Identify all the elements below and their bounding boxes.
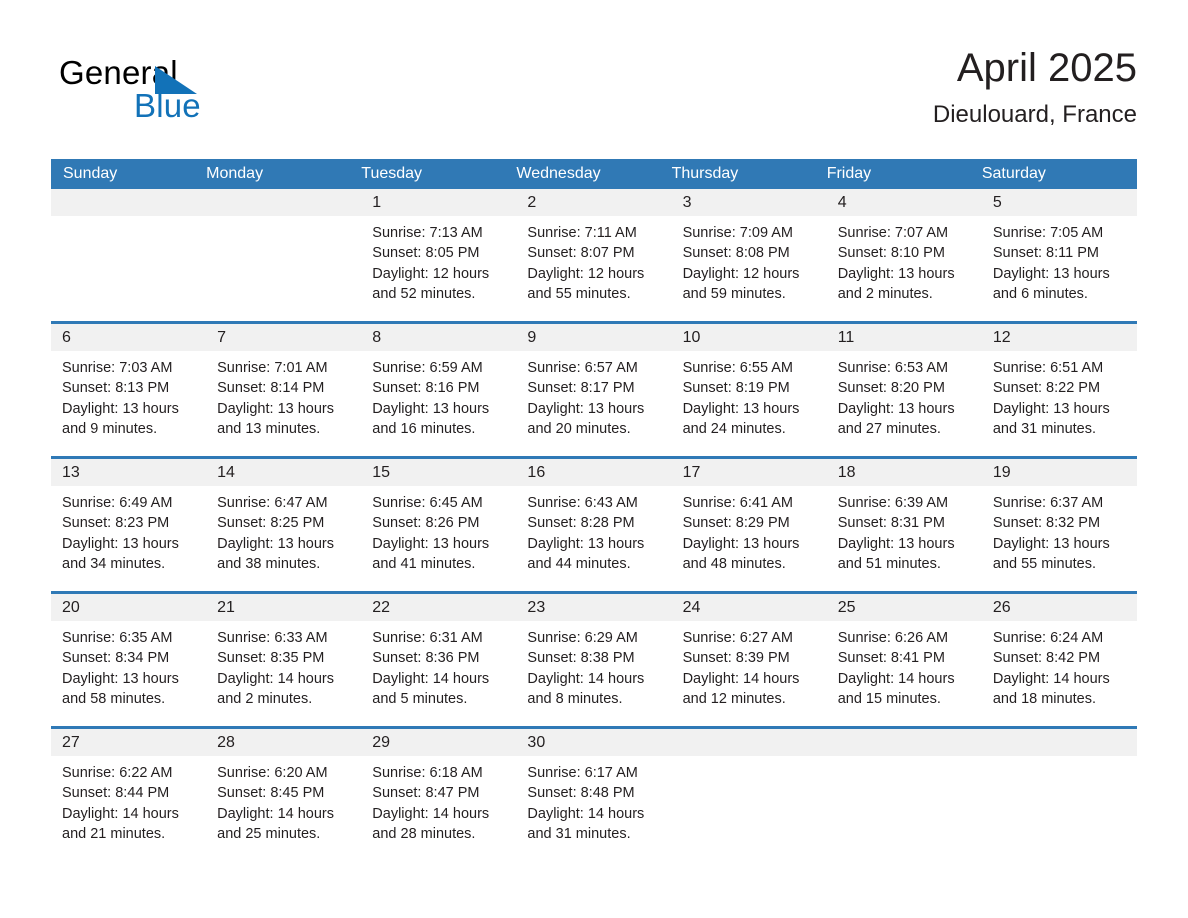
calendar-empty-cell	[51, 189, 206, 323]
day-number-band: 8	[361, 324, 516, 351]
calendar-day-cell[interactable]: 14Sunrise: 6:47 AMSunset: 8:25 PMDayligh…	[206, 458, 361, 593]
day-number: 11	[827, 324, 982, 351]
day-cell-inner: 13Sunrise: 6:49 AMSunset: 8:23 PMDayligh…	[51, 459, 206, 591]
calendar-header-row: Sunday Monday Tuesday Wednesday Thursday…	[51, 159, 1137, 189]
sunset-time: Sunset: 8:34 PM	[62, 648, 198, 668]
day-number-band: 18	[827, 459, 982, 486]
calendar-day-cell[interactable]: 8Sunrise: 6:59 AMSunset: 8:16 PMDaylight…	[361, 323, 516, 458]
sunrise-time: Sunrise: 6:20 AM	[217, 763, 353, 783]
sunset-time: Sunset: 8:26 PM	[372, 513, 508, 533]
daylight-duration-line2: and 24 minutes.	[683, 419, 819, 439]
sunrise-time: Sunrise: 6:31 AM	[372, 628, 508, 648]
day-cell-inner: 1Sunrise: 7:13 AMSunset: 8:05 PMDaylight…	[361, 189, 516, 321]
sunset-time: Sunset: 8:19 PM	[683, 378, 819, 398]
day-number-band: 21	[206, 594, 361, 621]
day-details: Sunrise: 6:37 AMSunset: 8:32 PMDaylight:…	[982, 486, 1137, 574]
daylight-duration-line1: Daylight: 13 hours	[217, 399, 353, 419]
day-number-band: 2	[516, 189, 671, 216]
day-number-band: 5	[982, 189, 1137, 216]
daylight-duration-line2: and 51 minutes.	[838, 554, 974, 574]
daylight-duration-line1: Daylight: 13 hours	[217, 534, 353, 554]
sunset-time: Sunset: 8:35 PM	[217, 648, 353, 668]
daylight-duration-line2: and 55 minutes.	[993, 554, 1129, 574]
sunset-time: Sunset: 8:14 PM	[217, 378, 353, 398]
daylight-duration-line1: Daylight: 12 hours	[372, 264, 508, 284]
daylight-duration-line1: Daylight: 14 hours	[527, 669, 663, 689]
sunrise-time: Sunrise: 7:13 AM	[372, 223, 508, 243]
calendar-day-cell[interactable]: 18Sunrise: 6:39 AMSunset: 8:31 PMDayligh…	[827, 458, 982, 593]
sunset-time: Sunset: 8:07 PM	[527, 243, 663, 263]
day-number: 9	[516, 324, 671, 351]
day-cell-inner: 29Sunrise: 6:18 AMSunset: 8:47 PMDayligh…	[361, 729, 516, 861]
sunrise-time: Sunrise: 6:37 AM	[993, 493, 1129, 513]
day-details: Sunrise: 7:01 AMSunset: 8:14 PMDaylight:…	[206, 351, 361, 439]
day-number-band: 15	[361, 459, 516, 486]
day-details: Sunrise: 6:26 AMSunset: 8:41 PMDaylight:…	[827, 621, 982, 709]
day-number-band: 19	[982, 459, 1137, 486]
sunrise-time: Sunrise: 6:53 AM	[838, 358, 974, 378]
sunset-time: Sunset: 8:13 PM	[62, 378, 198, 398]
day-details: Sunrise: 6:43 AMSunset: 8:28 PMDaylight:…	[516, 486, 671, 574]
day-cell-inner: 19Sunrise: 6:37 AMSunset: 8:32 PMDayligh…	[982, 459, 1137, 591]
daylight-duration-line2: and 21 minutes.	[62, 824, 198, 844]
day-cell-inner: 24Sunrise: 6:27 AMSunset: 8:39 PMDayligh…	[672, 594, 827, 726]
sunrise-time: Sunrise: 6:18 AM	[372, 763, 508, 783]
daylight-duration-line1: Daylight: 13 hours	[62, 669, 198, 689]
day-number-band: 6	[51, 324, 206, 351]
day-number-band: 26	[982, 594, 1137, 621]
daylight-duration-line2: and 58 minutes.	[62, 689, 198, 709]
sunrise-time: Sunrise: 6:55 AM	[683, 358, 819, 378]
calendar-day-cell[interactable]: 25Sunrise: 6:26 AMSunset: 8:41 PMDayligh…	[827, 593, 982, 728]
daylight-duration-line1: Daylight: 14 hours	[62, 804, 198, 824]
daylight-duration-line1: Daylight: 13 hours	[838, 264, 974, 284]
day-cell-inner: 8Sunrise: 6:59 AMSunset: 8:16 PMDaylight…	[361, 324, 516, 456]
day-details: Sunrise: 6:17 AMSunset: 8:48 PMDaylight:…	[516, 756, 671, 844]
calendar-day-cell[interactable]: 5Sunrise: 7:05 AMSunset: 8:11 PMDaylight…	[982, 189, 1137, 323]
general-blue-logo[interactable]: General Blue	[59, 54, 319, 140]
day-number: 5	[982, 189, 1137, 216]
weekday-header-thursday: Thursday	[672, 159, 827, 189]
sunrise-time: Sunrise: 7:01 AM	[217, 358, 353, 378]
calendar-body: 1Sunrise: 7:13 AMSunset: 8:05 PMDaylight…	[51, 189, 1137, 861]
day-details: Sunrise: 7:03 AMSunset: 8:13 PMDaylight:…	[51, 351, 206, 439]
day-number-band: 1	[361, 189, 516, 216]
day-details: Sunrise: 7:11 AMSunset: 8:07 PMDaylight:…	[516, 216, 671, 304]
day-number: 12	[982, 324, 1137, 351]
day-details: Sunrise: 6:33 AMSunset: 8:35 PMDaylight:…	[206, 621, 361, 709]
day-number-band: 27	[51, 729, 206, 756]
daylight-duration-line1: Daylight: 14 hours	[217, 804, 353, 824]
daylight-duration-line2: and 48 minutes.	[683, 554, 819, 574]
daylight-duration-line2: and 13 minutes.	[217, 419, 353, 439]
daylight-duration-line1: Daylight: 13 hours	[372, 399, 508, 419]
day-details: Sunrise: 7:09 AMSunset: 8:08 PMDaylight:…	[672, 216, 827, 304]
calendar-week-row: 20Sunrise: 6:35 AMSunset: 8:34 PMDayligh…	[51, 593, 1137, 728]
day-number-band: 22	[361, 594, 516, 621]
calendar-day-cell[interactable]: 30Sunrise: 6:17 AMSunset: 8:48 PMDayligh…	[516, 728, 671, 862]
day-details: Sunrise: 6:18 AMSunset: 8:47 PMDaylight:…	[361, 756, 516, 844]
day-number: 8	[361, 324, 516, 351]
sunset-time: Sunset: 8:22 PM	[993, 378, 1129, 398]
calendar-day-cell[interactable]: 9Sunrise: 6:57 AMSunset: 8:17 PMDaylight…	[516, 323, 671, 458]
day-cell-inner: 7Sunrise: 7:01 AMSunset: 8:14 PMDaylight…	[206, 324, 361, 456]
day-number: 3	[672, 189, 827, 216]
day-number: 2	[516, 189, 671, 216]
calendar-day-cell[interactable]: 13Sunrise: 6:49 AMSunset: 8:23 PMDayligh…	[51, 458, 206, 593]
sunset-time: Sunset: 8:05 PM	[372, 243, 508, 263]
day-number: 15	[361, 459, 516, 486]
sunset-time: Sunset: 8:42 PM	[993, 648, 1129, 668]
daylight-duration-line2: and 5 minutes.	[372, 689, 508, 709]
sunset-time: Sunset: 8:29 PM	[683, 513, 819, 533]
day-details: Sunrise: 6:24 AMSunset: 8:42 PMDaylight:…	[982, 621, 1137, 709]
calendar-day-cell[interactable]: 28Sunrise: 6:20 AMSunset: 8:45 PMDayligh…	[206, 728, 361, 862]
day-cell-inner: 16Sunrise: 6:43 AMSunset: 8:28 PMDayligh…	[516, 459, 671, 591]
weekday-header-monday: Monday	[206, 159, 361, 189]
day-cell-inner: 20Sunrise: 6:35 AMSunset: 8:34 PMDayligh…	[51, 594, 206, 726]
daylight-duration-line1: Daylight: 14 hours	[683, 669, 819, 689]
day-number: 10	[672, 324, 827, 351]
sunrise-time: Sunrise: 6:22 AM	[62, 763, 198, 783]
sunrise-time: Sunrise: 6:39 AM	[838, 493, 974, 513]
day-cell-inner: 18Sunrise: 6:39 AMSunset: 8:31 PMDayligh…	[827, 459, 982, 591]
day-cell-inner: 2Sunrise: 7:11 AMSunset: 8:07 PMDaylight…	[516, 189, 671, 321]
sunrise-time: Sunrise: 6:51 AM	[993, 358, 1129, 378]
day-number-band	[827, 729, 982, 756]
day-number: 14	[206, 459, 361, 486]
day-cell-inner: 26Sunrise: 6:24 AMSunset: 8:42 PMDayligh…	[982, 594, 1137, 726]
daylight-duration-line1: Daylight: 13 hours	[838, 534, 974, 554]
day-details: Sunrise: 6:29 AMSunset: 8:38 PMDaylight:…	[516, 621, 671, 709]
page-title: April 2025	[933, 42, 1137, 94]
daylight-duration-line1: Daylight: 14 hours	[993, 669, 1129, 689]
sunset-time: Sunset: 8:08 PM	[683, 243, 819, 263]
day-number: 22	[361, 594, 516, 621]
calendar-day-cell[interactable]: 24Sunrise: 6:27 AMSunset: 8:39 PMDayligh…	[672, 593, 827, 728]
day-cell-inner: 4Sunrise: 7:07 AMSunset: 8:10 PMDaylight…	[827, 189, 982, 321]
daylight-duration-line2: and 52 minutes.	[372, 284, 508, 304]
day-cell-inner	[672, 729, 827, 861]
calendar-empty-cell	[827, 728, 982, 862]
sunset-time: Sunset: 8:28 PM	[527, 513, 663, 533]
calendar-day-cell[interactable]: 29Sunrise: 6:18 AMSunset: 8:47 PMDayligh…	[361, 728, 516, 862]
day-number-band: 10	[672, 324, 827, 351]
day-cell-inner: 28Sunrise: 6:20 AMSunset: 8:45 PMDayligh…	[206, 729, 361, 861]
calendar-day-cell[interactable]: 6Sunrise: 7:03 AMSunset: 8:13 PMDaylight…	[51, 323, 206, 458]
sunrise-time: Sunrise: 6:35 AM	[62, 628, 198, 648]
day-number-band	[51, 189, 206, 216]
day-number: 21	[206, 594, 361, 621]
calendar-empty-cell	[672, 728, 827, 862]
day-cell-inner: 11Sunrise: 6:53 AMSunset: 8:20 PMDayligh…	[827, 324, 982, 456]
sunrise-time: Sunrise: 6:26 AM	[838, 628, 974, 648]
daylight-duration-line1: Daylight: 12 hours	[683, 264, 819, 284]
calendar-day-cell[interactable]: 19Sunrise: 6:37 AMSunset: 8:32 PMDayligh…	[982, 458, 1137, 593]
calendar-day-cell[interactable]: 11Sunrise: 6:53 AMSunset: 8:20 PMDayligh…	[827, 323, 982, 458]
calendar-empty-cell	[982, 728, 1137, 862]
daylight-duration-line2: and 27 minutes.	[838, 419, 974, 439]
calendar-day-cell[interactable]: 20Sunrise: 6:35 AMSunset: 8:34 PMDayligh…	[51, 593, 206, 728]
day-details: Sunrise: 6:59 AMSunset: 8:16 PMDaylight:…	[361, 351, 516, 439]
daylight-duration-line1: Daylight: 13 hours	[993, 264, 1129, 284]
sunrise-time: Sunrise: 6:41 AM	[683, 493, 819, 513]
day-number-band: 25	[827, 594, 982, 621]
day-number-band: 9	[516, 324, 671, 351]
day-number: 26	[982, 594, 1137, 621]
day-number: 27	[51, 729, 206, 756]
day-number-band: 29	[361, 729, 516, 756]
day-number: 1	[361, 189, 516, 216]
day-number-band: 20	[51, 594, 206, 621]
daylight-duration-line2: and 28 minutes.	[372, 824, 508, 844]
day-cell-inner	[982, 729, 1137, 861]
daylight-duration-line2: and 34 minutes.	[62, 554, 198, 574]
day-number-band: 16	[516, 459, 671, 486]
daylight-duration-line1: Daylight: 13 hours	[993, 534, 1129, 554]
weekday-header-wednesday: Wednesday	[516, 159, 671, 189]
daylight-duration-line1: Daylight: 13 hours	[527, 534, 663, 554]
daylight-duration-line2: and 15 minutes.	[838, 689, 974, 709]
sunrise-time: Sunrise: 7:05 AM	[993, 223, 1129, 243]
day-cell-inner: 25Sunrise: 6:26 AMSunset: 8:41 PMDayligh…	[827, 594, 982, 726]
day-number: 13	[51, 459, 206, 486]
day-details: Sunrise: 6:39 AMSunset: 8:31 PMDaylight:…	[827, 486, 982, 574]
sunrise-time: Sunrise: 7:11 AM	[527, 223, 663, 243]
day-number: 7	[206, 324, 361, 351]
sunrise-time: Sunrise: 6:33 AM	[217, 628, 353, 648]
day-details: Sunrise: 6:27 AMSunset: 8:39 PMDaylight:…	[672, 621, 827, 709]
sunset-time: Sunset: 8:47 PM	[372, 783, 508, 803]
calendar-day-cell[interactable]: 17Sunrise: 6:41 AMSunset: 8:29 PMDayligh…	[672, 458, 827, 593]
daylight-duration-line1: Daylight: 12 hours	[527, 264, 663, 284]
calendar-day-cell[interactable]: 7Sunrise: 7:01 AMSunset: 8:14 PMDaylight…	[206, 323, 361, 458]
calendar-day-cell[interactable]: 10Sunrise: 6:55 AMSunset: 8:19 PMDayligh…	[672, 323, 827, 458]
calendar-day-cell[interactable]: 22Sunrise: 6:31 AMSunset: 8:36 PMDayligh…	[361, 593, 516, 728]
day-number-band: 7	[206, 324, 361, 351]
daylight-duration-line1: Daylight: 13 hours	[683, 534, 819, 554]
sunset-time: Sunset: 8:31 PM	[838, 513, 974, 533]
day-cell-inner: 15Sunrise: 6:45 AMSunset: 8:26 PMDayligh…	[361, 459, 516, 591]
day-number-band: 28	[206, 729, 361, 756]
sunrise-time: Sunrise: 6:57 AM	[527, 358, 663, 378]
day-cell-inner: 17Sunrise: 6:41 AMSunset: 8:29 PMDayligh…	[672, 459, 827, 591]
day-number-band: 12	[982, 324, 1137, 351]
day-details: Sunrise: 6:47 AMSunset: 8:25 PMDaylight:…	[206, 486, 361, 574]
day-number-band: 14	[206, 459, 361, 486]
calendar-week-row: 1Sunrise: 7:13 AMSunset: 8:05 PMDaylight…	[51, 189, 1137, 323]
day-number: 18	[827, 459, 982, 486]
daylight-duration-line2: and 18 minutes.	[993, 689, 1129, 709]
sunset-time: Sunset: 8:36 PM	[372, 648, 508, 668]
day-details: Sunrise: 6:20 AMSunset: 8:45 PMDaylight:…	[206, 756, 361, 844]
daylight-duration-line2: and 41 minutes.	[372, 554, 508, 574]
day-details: Sunrise: 6:51 AMSunset: 8:22 PMDaylight:…	[982, 351, 1137, 439]
daylight-duration-line2: and 38 minutes.	[217, 554, 353, 574]
calendar-day-cell[interactable]: 26Sunrise: 6:24 AMSunset: 8:42 PMDayligh…	[982, 593, 1137, 728]
daylight-duration-line2: and 2 minutes.	[838, 284, 974, 304]
daylight-duration-line2: and 9 minutes.	[62, 419, 198, 439]
daylight-duration-line1: Daylight: 13 hours	[527, 399, 663, 419]
calendar-day-cell[interactable]: 4Sunrise: 7:07 AMSunset: 8:10 PMDaylight…	[827, 189, 982, 323]
day-details: Sunrise: 6:22 AMSunset: 8:44 PMDaylight:…	[51, 756, 206, 844]
logo-text-blue: Blue	[134, 87, 201, 125]
sunset-time: Sunset: 8:48 PM	[527, 783, 663, 803]
day-number-band: 23	[516, 594, 671, 621]
day-number-band: 17	[672, 459, 827, 486]
day-number-band: 4	[827, 189, 982, 216]
calendar-day-cell[interactable]: 3Sunrise: 7:09 AMSunset: 8:08 PMDaylight…	[672, 189, 827, 323]
day-number: 30	[516, 729, 671, 756]
sunrise-time: Sunrise: 7:03 AM	[62, 358, 198, 378]
sunset-time: Sunset: 8:39 PM	[683, 648, 819, 668]
day-number: 17	[672, 459, 827, 486]
weekday-header-friday: Friday	[827, 159, 982, 189]
day-cell-inner: 22Sunrise: 6:31 AMSunset: 8:36 PMDayligh…	[361, 594, 516, 726]
location-subtitle: Dieulouard, France	[933, 98, 1137, 132]
day-number: 23	[516, 594, 671, 621]
day-details: Sunrise: 7:13 AMSunset: 8:05 PMDaylight:…	[361, 216, 516, 304]
sunrise-time: Sunrise: 7:09 AM	[683, 223, 819, 243]
calendar-day-cell[interactable]: 27Sunrise: 6:22 AMSunset: 8:44 PMDayligh…	[51, 728, 206, 862]
day-details: Sunrise: 6:35 AMSunset: 8:34 PMDaylight:…	[51, 621, 206, 709]
day-number-band	[206, 189, 361, 216]
day-details: Sunrise: 6:55 AMSunset: 8:19 PMDaylight:…	[672, 351, 827, 439]
day-number: 16	[516, 459, 671, 486]
daylight-duration-line2: and 31 minutes.	[993, 419, 1129, 439]
day-cell-inner: 6Sunrise: 7:03 AMSunset: 8:13 PMDaylight…	[51, 324, 206, 456]
day-cell-inner: 30Sunrise: 6:17 AMSunset: 8:48 PMDayligh…	[516, 729, 671, 861]
daylight-duration-line1: Daylight: 14 hours	[527, 804, 663, 824]
day-number: 19	[982, 459, 1137, 486]
daylight-duration-line2: and 20 minutes.	[527, 419, 663, 439]
title-block: April 2025 Dieulouard, France	[933, 42, 1137, 132]
daylight-duration-line1: Daylight: 13 hours	[372, 534, 508, 554]
sunrise-time: Sunrise: 6:47 AM	[217, 493, 353, 513]
calendar-day-cell[interactable]: 12Sunrise: 6:51 AMSunset: 8:22 PMDayligh…	[982, 323, 1137, 458]
calendar-day-cell[interactable]: 1Sunrise: 7:13 AMSunset: 8:05 PMDaylight…	[361, 189, 516, 323]
sunset-time: Sunset: 8:10 PM	[838, 243, 974, 263]
day-cell-inner: 21Sunrise: 6:33 AMSunset: 8:35 PMDayligh…	[206, 594, 361, 726]
daylight-duration-line1: Daylight: 13 hours	[838, 399, 974, 419]
day-number-band	[982, 729, 1137, 756]
sunrise-time: Sunrise: 6:43 AM	[527, 493, 663, 513]
daylight-duration-line1: Daylight: 13 hours	[993, 399, 1129, 419]
sunset-time: Sunset: 8:16 PM	[372, 378, 508, 398]
sunrise-time: Sunrise: 7:07 AM	[838, 223, 974, 243]
day-cell-inner: 12Sunrise: 6:51 AMSunset: 8:22 PMDayligh…	[982, 324, 1137, 456]
day-number-band: 3	[672, 189, 827, 216]
daylight-duration-line1: Daylight: 14 hours	[372, 669, 508, 689]
day-number: 25	[827, 594, 982, 621]
day-number-band: 13	[51, 459, 206, 486]
daylight-duration-line2: and 8 minutes.	[527, 689, 663, 709]
day-number: 28	[206, 729, 361, 756]
calendar-page: General Blue April 2025 Dieulouard, Fran…	[0, 0, 1188, 918]
daylight-duration-line1: Daylight: 14 hours	[838, 669, 974, 689]
sunrise-time: Sunrise: 6:24 AM	[993, 628, 1129, 648]
day-cell-inner: 23Sunrise: 6:29 AMSunset: 8:38 PMDayligh…	[516, 594, 671, 726]
weekday-header-saturday: Saturday	[982, 159, 1137, 189]
calendar-day-cell[interactable]: 21Sunrise: 6:33 AMSunset: 8:35 PMDayligh…	[206, 593, 361, 728]
day-cell-inner: 14Sunrise: 6:47 AMSunset: 8:25 PMDayligh…	[206, 459, 361, 591]
calendar-week-row: 6Sunrise: 7:03 AMSunset: 8:13 PMDaylight…	[51, 323, 1137, 458]
sunrise-time: Sunrise: 6:29 AM	[527, 628, 663, 648]
day-cell-inner	[51, 189, 206, 321]
day-details: Sunrise: 6:45 AMSunset: 8:26 PMDaylight:…	[361, 486, 516, 574]
sunrise-time: Sunrise: 6:27 AM	[683, 628, 819, 648]
daylight-duration-line2: and 59 minutes.	[683, 284, 819, 304]
day-details: Sunrise: 6:49 AMSunset: 8:23 PMDaylight:…	[51, 486, 206, 574]
day-number: 29	[361, 729, 516, 756]
day-number-band: 24	[672, 594, 827, 621]
daylight-duration-line2: and 2 minutes.	[217, 689, 353, 709]
daylight-duration-line1: Daylight: 13 hours	[683, 399, 819, 419]
day-details: Sunrise: 6:53 AMSunset: 8:20 PMDaylight:…	[827, 351, 982, 439]
day-cell-inner: 27Sunrise: 6:22 AMSunset: 8:44 PMDayligh…	[51, 729, 206, 861]
daylight-duration-line1: Daylight: 14 hours	[372, 804, 508, 824]
sunset-time: Sunset: 8:20 PM	[838, 378, 974, 398]
day-cell-inner	[827, 729, 982, 861]
page-header: General Blue April 2025 Dieulouard, Fran…	[51, 42, 1137, 152]
sunset-time: Sunset: 8:45 PM	[217, 783, 353, 803]
day-details: Sunrise: 6:41 AMSunset: 8:29 PMDaylight:…	[672, 486, 827, 574]
day-number: 20	[51, 594, 206, 621]
day-number-band: 11	[827, 324, 982, 351]
sunset-time: Sunset: 8:38 PM	[527, 648, 663, 668]
daylight-duration-line1: Daylight: 14 hours	[217, 669, 353, 689]
calendar-day-cell[interactable]: 16Sunrise: 6:43 AMSunset: 8:28 PMDayligh…	[516, 458, 671, 593]
day-number: 4	[827, 189, 982, 216]
sunset-time: Sunset: 8:44 PM	[62, 783, 198, 803]
daylight-duration-line1: Daylight: 13 hours	[62, 399, 198, 419]
day-details: Sunrise: 7:07 AMSunset: 8:10 PMDaylight:…	[827, 216, 982, 304]
calendar-day-cell[interactable]: 15Sunrise: 6:45 AMSunset: 8:26 PMDayligh…	[361, 458, 516, 593]
daylight-duration-line2: and 55 minutes.	[527, 284, 663, 304]
day-number-band	[672, 729, 827, 756]
sunrise-time: Sunrise: 6:59 AM	[372, 358, 508, 378]
daylight-duration-line2: and 44 minutes.	[527, 554, 663, 574]
daylight-duration-line2: and 6 minutes.	[993, 284, 1129, 304]
day-number-band: 30	[516, 729, 671, 756]
weekday-header-sunday: Sunday	[51, 159, 206, 189]
calendar-week-row: 27Sunrise: 6:22 AMSunset: 8:44 PMDayligh…	[51, 728, 1137, 862]
sunset-time: Sunset: 8:41 PM	[838, 648, 974, 668]
daylight-duration-line2: and 16 minutes.	[372, 419, 508, 439]
calendar-day-cell[interactable]: 23Sunrise: 6:29 AMSunset: 8:38 PMDayligh…	[516, 593, 671, 728]
day-cell-inner: 3Sunrise: 7:09 AMSunset: 8:08 PMDaylight…	[672, 189, 827, 321]
day-number: 24	[672, 594, 827, 621]
day-cell-inner: 5Sunrise: 7:05 AMSunset: 8:11 PMDaylight…	[982, 189, 1137, 321]
calendar-empty-cell	[206, 189, 361, 323]
day-details: Sunrise: 6:31 AMSunset: 8:36 PMDaylight:…	[361, 621, 516, 709]
sunset-time: Sunset: 8:11 PM	[993, 243, 1129, 263]
sunset-time: Sunset: 8:23 PM	[62, 513, 198, 533]
day-cell-inner: 10Sunrise: 6:55 AMSunset: 8:19 PMDayligh…	[672, 324, 827, 456]
sunrise-time: Sunrise: 6:17 AM	[527, 763, 663, 783]
calendar-day-cell[interactable]: 2Sunrise: 7:11 AMSunset: 8:07 PMDaylight…	[516, 189, 671, 323]
weekday-header-tuesday: Tuesday	[361, 159, 516, 189]
sunset-time: Sunset: 8:17 PM	[527, 378, 663, 398]
month-calendar: Sunday Monday Tuesday Wednesday Thursday…	[51, 159, 1137, 861]
calendar-week-row: 13Sunrise: 6:49 AMSunset: 8:23 PMDayligh…	[51, 458, 1137, 593]
sunset-time: Sunset: 8:32 PM	[993, 513, 1129, 533]
day-details: Sunrise: 7:05 AMSunset: 8:11 PMDaylight:…	[982, 216, 1137, 304]
daylight-duration-line1: Daylight: 13 hours	[62, 534, 198, 554]
day-cell-inner: 9Sunrise: 6:57 AMSunset: 8:17 PMDaylight…	[516, 324, 671, 456]
daylight-duration-line2: and 12 minutes.	[683, 689, 819, 709]
sunrise-time: Sunrise: 6:45 AM	[372, 493, 508, 513]
